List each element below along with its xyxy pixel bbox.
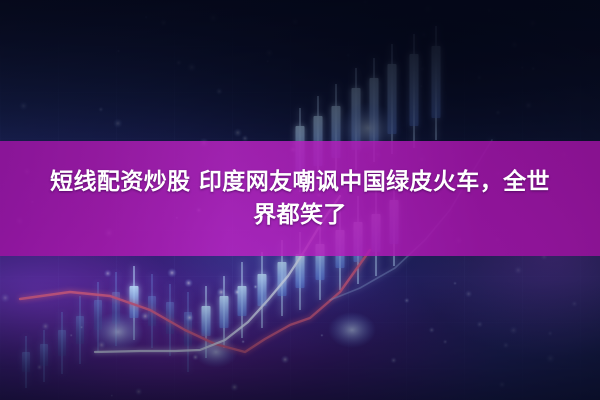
headline-text: 短线配资炒股 印度网友嘲讽中国绿皮火车，全世界都笑了 <box>20 166 580 232</box>
headline-banner: 短线配资炒股 印度网友嘲讽中国绿皮火车，全世界都笑了 <box>0 141 600 256</box>
thumbnail-image: 短线配资炒股 印度网友嘲讽中国绿皮火车，全世界都笑了 <box>0 0 600 400</box>
